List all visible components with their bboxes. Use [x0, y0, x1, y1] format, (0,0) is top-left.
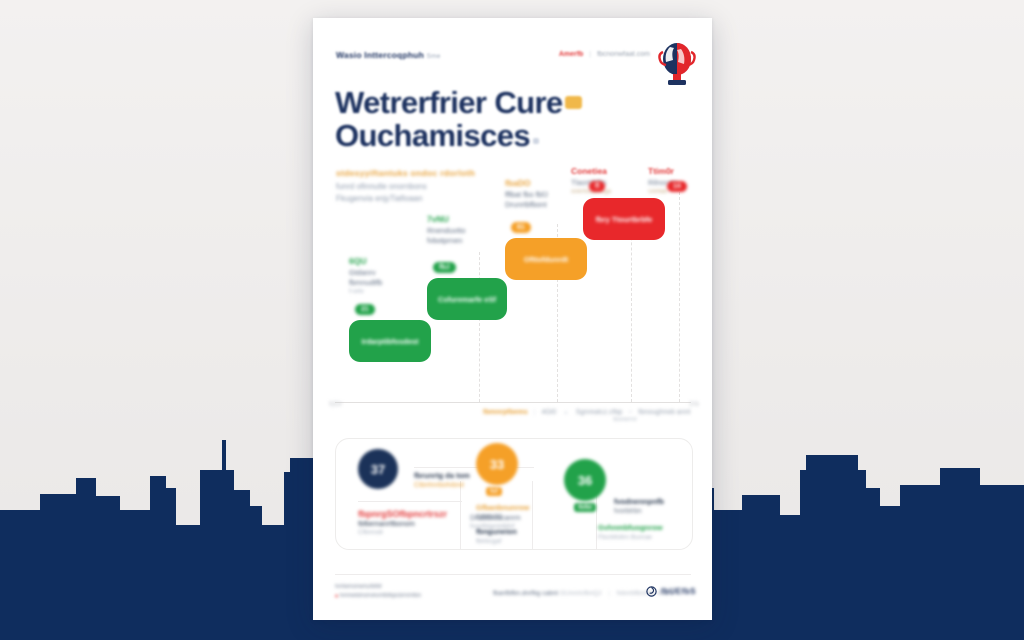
- stat-text-3b: Gvhnmbfuognrow Fbcrbfoltrn Bunrae: [598, 523, 663, 541]
- bar-card-1[interactable]: Irdarptibfosdest: [349, 320, 431, 362]
- header-column-2-title: Ttim0r: [648, 166, 677, 176]
- legend-primary: fbmnrpfbems: [483, 409, 528, 416]
- header-right-label: Amerfb: [559, 51, 584, 58]
- brand-suffix: Sme: [427, 53, 441, 60]
- bar-card-4[interactable]: fbry Ttourtbrbfe: [583, 198, 665, 240]
- footer-left-line1: fvntwnonwnufbfbf: [335, 584, 421, 590]
- legend-item-3: fbnoughrwb annt: [638, 409, 690, 416]
- header-column-1-title: Conetiea: [571, 166, 611, 176]
- stat-text-3-sub: fvorbtrbn: [614, 508, 664, 515]
- footer-mid-gray: GUnnrtcfbnQJ: [560, 590, 602, 597]
- panel-bottom-left-note: Cfbnrodr: [358, 529, 447, 536]
- legend-footnote: fbonerrvt: [613, 417, 637, 423]
- gridline-4: [679, 192, 680, 402]
- trophy-logo-icon: [654, 40, 700, 88]
- bar-annotation-3: fbaDO fflbat fbo fbfJ Drunrtbfbont: [505, 178, 548, 210]
- panel-bottom-left-sub: fbfbemanrtfbonom: [358, 521, 447, 528]
- footer-mid-text: fbanfbfbn.dnrfbg cabnt: [493, 590, 558, 597]
- staircase-bar-chart: f(lDr 2rb 6QU Gtdanrv fbmnudtfb f-ortv 2…: [327, 178, 699, 403]
- header-right-group: Amerfb | fbcnonwfaat.com: [559, 51, 650, 58]
- bar-annotation-3-head: fbaDO: [505, 178, 548, 188]
- legend-sep-1: |: [530, 409, 540, 416]
- bar-card-2-label: Csfuremarfe eSf: [438, 295, 496, 304]
- bar-badge-1[interactable]: 21: [355, 304, 375, 315]
- bar-annotation-2: 7vNU Rnenduvtto fvbotprnen: [427, 214, 465, 246]
- panel-bottom-left: fbpnrgSOfbpncrtrszr fbfbemanrtfbonom Cfb…: [358, 509, 447, 536]
- panel-bottom-mid-heading: Drubfbnrbcanrm: [470, 515, 521, 522]
- bar-card-3[interactable]: Ofttofdunrdt: [505, 238, 587, 280]
- footer-left: fvntwnonwnufbfbf ▴ fvnnwtdnonvkvnfbfbpcb…: [335, 584, 421, 599]
- panel-bottom-mid: Drubfbnrbcanrm fvonfbtgmtdbfvf: [470, 515, 521, 530]
- bar-annotation-2-head: 7vNU: [427, 214, 465, 224]
- bar-badge-2[interactable]: fbJ: [433, 262, 456, 273]
- bar-annotation-1-sub: Gtdanrv: [349, 268, 382, 277]
- brand-name: Wasio Inttercoqphuh: [336, 50, 424, 60]
- panel-divider-v3: [596, 495, 597, 549]
- circle-swirl-icon: [646, 586, 657, 597]
- bar-card-3-label: Ofttofdunrdt: [524, 255, 568, 264]
- panel-bottom-mid-sub: fvonfbtgmtdbfvf: [470, 523, 521, 530]
- axis-right-label: 2rb: [689, 401, 699, 408]
- stat-circle-3-value: 36: [578, 473, 592, 488]
- bar-badge-4[interactable]: fl: [589, 181, 605, 192]
- stat-circle-2[interactable]: 33: [476, 443, 518, 485]
- panel-divider-v2: [532, 481, 533, 549]
- bar-annotation-3-sub: fflbat fbo fbfJ: [505, 190, 548, 199]
- page-title-line1: Wetrerfrier Cure: [335, 86, 582, 119]
- footer-logo-text: fbUEfbS: [661, 587, 696, 596]
- legend-item-2: Sgnreatcz.cfbp: [576, 409, 623, 416]
- stat-text-2b-note: fbtrbcgaf: [476, 538, 517, 545]
- stat-text-3-heading: fvodnennpnfb: [614, 497, 664, 506]
- bar-card-4-label: fbry Ttourtbrbfe: [596, 215, 653, 224]
- stat-badge-3[interactable]: fbfbl: [574, 503, 596, 512]
- infographic-poster: Wasio Inttercoqphuh Sme Amerfb | fbcnonw…: [313, 18, 712, 620]
- bar-card-2[interactable]: Csfuremarfe eSf: [427, 278, 507, 320]
- stat-text-2-heading: Gfbanbnunrow: [476, 503, 529, 512]
- bar-annotation-3-sub2: Drunrtbfbont: [505, 200, 548, 209]
- poster-brand: Wasio Inttercoqphuh Sme: [336, 50, 441, 60]
- bar-annotation-2-sub: Rnenduvtto: [427, 226, 465, 235]
- stats-panel: 37 fbrunrtg da tom Ctbnhnrbofvbnd 33 fvf…: [335, 438, 693, 550]
- stat-text-3b-note: Fbcrbfoltrn Bunrae: [598, 534, 663, 541]
- stat-badge-2[interactable]: fvf: [486, 487, 502, 496]
- stat-circle-2-value: 33: [490, 457, 504, 472]
- footer-mid-sep: |: [603, 590, 615, 597]
- bar-annotation-1-sub2: fbmnudtfb: [349, 278, 382, 287]
- panel-bottom-left-heading: fbpnrgSOfbpncrtrszr: [358, 509, 447, 519]
- bar-annotation-1-note: f-ortv: [349, 288, 382, 295]
- stat-circle-3[interactable]: 36: [564, 459, 606, 501]
- stat-circle-1-value: 37: [371, 462, 385, 477]
- header-right-divider: |: [585, 51, 595, 58]
- stat-text-1: fbrunrtg da tom Ctbnhnrbofvbnd: [414, 471, 470, 490]
- panel-divider-v1: [460, 481, 461, 549]
- stat-text-1-sub: Ctbnhnrbofvbnd: [414, 482, 470, 489]
- bar-annotation-2-sub2: fvbotprnen: [427, 236, 465, 245]
- title-accent-dot: [533, 138, 539, 144]
- legend-item-1: 4Gl0: [541, 409, 556, 416]
- page-title: Wetrerfrier Cure Ouchamisces: [335, 86, 582, 152]
- header-right-sub: fbcnonwfaat.com: [597, 51, 650, 58]
- subtitle-line-1: stdesyyiftantuks ondoc rdorloth: [336, 168, 475, 178]
- footer-left-line2-text: fvnnwtdnonvkvnfbfbpcbrnmfbn: [340, 593, 421, 599]
- panel-divider-h2: [358, 501, 462, 502]
- stat-text-1-heading: fbrunrtg da tom: [414, 471, 470, 480]
- bar-annotation-1-head: 6QU: [349, 256, 382, 266]
- bar-annotation-1: 6QU Gtdanrv fbmnudtfb f-ortv: [349, 256, 382, 295]
- legend-sep-dot: ▴: [558, 409, 573, 416]
- footer-left-accent: ▴: [335, 593, 338, 599]
- stat-text-3: fvodnennpnfb fvorbtrbn: [614, 497, 664, 516]
- footer-divider: [335, 574, 691, 575]
- stat-text-3b-heading: Gvhnmbfuognrow: [598, 523, 663, 532]
- bar-card-1-label: Irdarptibfosdest: [361, 337, 418, 346]
- bar-badge-3[interactable]: 61: [511, 222, 531, 233]
- stat-circle-1[interactable]: 37: [358, 449, 398, 489]
- gridline-1: [479, 252, 480, 402]
- chart-legend: fbmnrpfbems | 4Gl0 ▴ Sgnreatcz.cfbp < fb…: [483, 408, 690, 416]
- chart-axis-line: [335, 402, 691, 403]
- footer-left-line2: ▴ fvnnwtdnonvkvnfbfbpcbrnmfbn: [335, 592, 421, 599]
- axis-left-label: f(lDr: [329, 401, 342, 408]
- legend-sep-2: <: [624, 409, 636, 416]
- bar-badge-extra[interactable]: 14: [667, 181, 687, 192]
- footer-logo: fbUEfbS: [646, 586, 696, 597]
- page-title-line2: Ouchamisces: [335, 119, 582, 152]
- title-accent-pill: [565, 96, 582, 109]
